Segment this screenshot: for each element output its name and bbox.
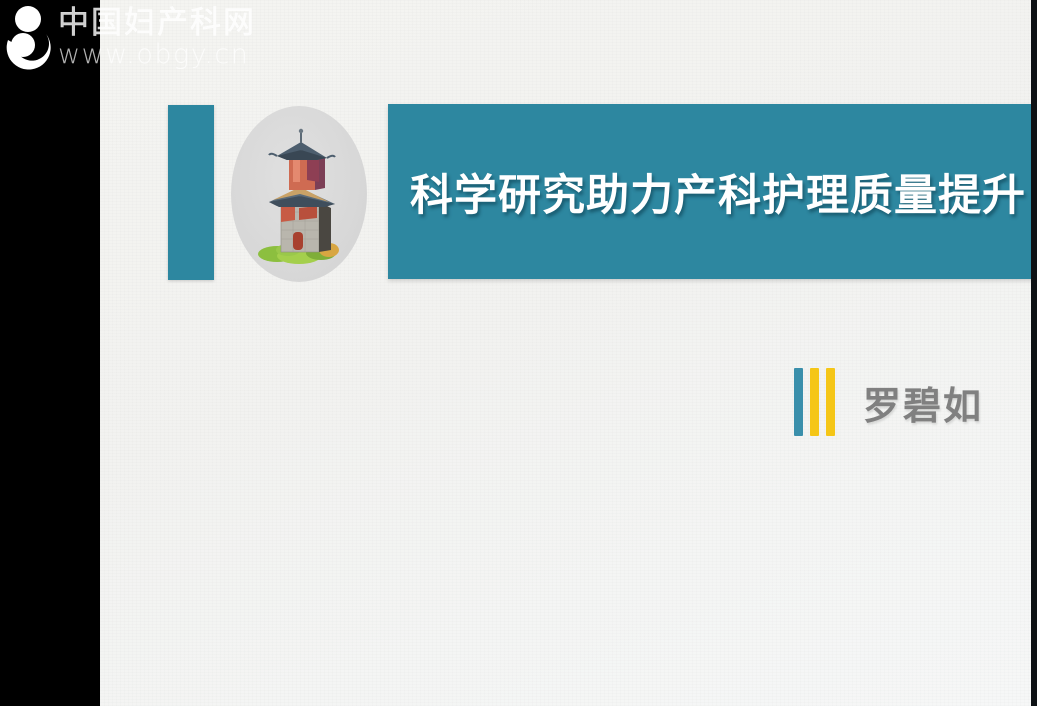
accent-bar-left (168, 105, 214, 280)
accent-bar-gold-icon-1 (810, 368, 819, 436)
presentation-slide: 科学研究助力产科护理质量提升 罗碧如 (100, 0, 1031, 706)
slide-title-banner: 科学研究助力产科护理质量提升 (388, 104, 1031, 279)
image-oval-frame (231, 106, 367, 282)
letterbox-bar-right (1031, 0, 1037, 706)
page-title: 科学研究助力产科护理质量提升 (410, 161, 1026, 223)
pagoda-tower-illustration-icon (255, 124, 345, 264)
letterbox-bar-left (0, 0, 100, 706)
presenter-accent-bars (794, 368, 835, 436)
accent-bar-gold-icon-2 (826, 368, 835, 436)
video-player-frame: 科学研究助力产科护理质量提升 罗碧如 中国妇产科网 www.obgy.cn (0, 0, 1037, 706)
presenter-block: 罗碧如 (794, 368, 983, 436)
presenter-name: 罗碧如 (863, 375, 983, 430)
accent-bar-teal-icon (794, 368, 803, 436)
